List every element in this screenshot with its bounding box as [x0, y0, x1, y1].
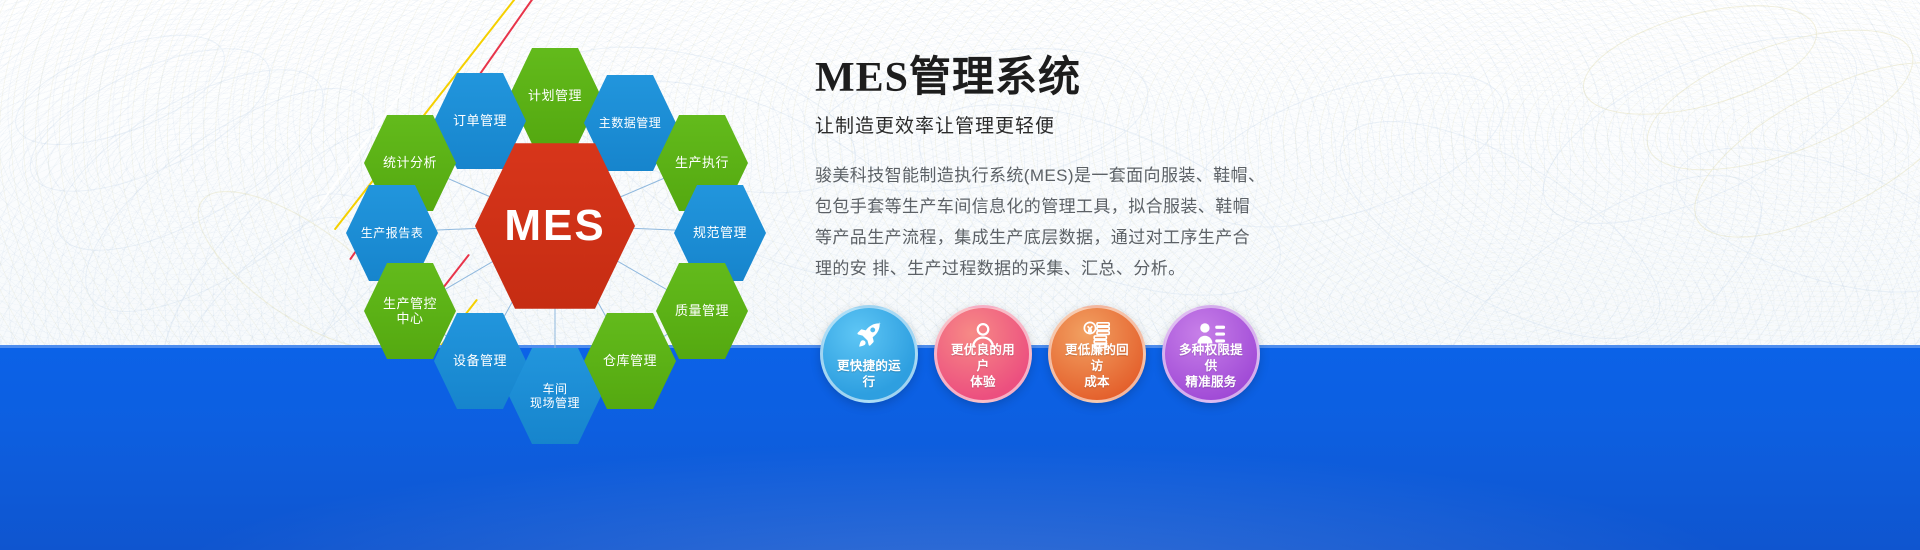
rocket-icon: [854, 320, 884, 350]
user-icon: [968, 320, 998, 350]
hex-center-label: MES: [498, 200, 611, 252]
page-description: 骏美科技智能制造执行系统(MES)是一套面向服装、鞋帽、包包手套等生产车间信息化…: [815, 160, 1267, 284]
hex-label: 计划管理: [522, 88, 588, 103]
hex-label: 订单管理: [447, 113, 513, 128]
user-list-icon: [1196, 320, 1226, 350]
feature-badge-multi-permission[interactable]: 多种权限提供精准服务: [1162, 305, 1260, 403]
hex-label: 主数据管理: [593, 116, 668, 130]
hex-label: 生产执行: [669, 155, 735, 170]
banner-stage: 计划管理 订单管理 主数据管理 统计分析 生产执行 生产报告表 规范管理 生产管…: [0, 0, 1920, 550]
hex-label: 仓库管理: [597, 353, 663, 368]
badge-label: 更快捷的运行: [823, 358, 915, 390]
feature-badge-lower-revisit-cost[interactable]: 更低廉的回访成本: [1048, 305, 1146, 403]
hex-label: 规范管理: [687, 225, 753, 240]
hex-label: 设备管理: [447, 353, 513, 368]
page-subtitle: 让制造更效率让管理更轻便: [815, 111, 1375, 138]
hex-label: 质量管理: [669, 303, 735, 318]
feature-badge-faster-operation[interactable]: 更快捷的运行: [820, 305, 918, 403]
hex-label: 生产管控中心: [377, 296, 443, 327]
hex-label: 车间现场管理: [524, 382, 586, 410]
money-stack-icon: [1082, 320, 1112, 350]
hex-label: 统计分析: [377, 155, 443, 170]
banner-text-column: MES管理系统 让制造更效率让管理更轻便 骏美科技智能制造执行系统(MES)是一…: [815, 55, 1375, 284]
feature-badge-better-user-experience[interactable]: 更优良的用户体验: [934, 305, 1032, 403]
page-title: MES管理系统: [815, 55, 1375, 101]
feature-badge-row: 更快捷的运行 更优良的用户体验: [820, 305, 1260, 403]
mes-hexagon-diagram: 计划管理 订单管理 主数据管理 统计分析 生产执行 生产报告表 规范管理 生产管…: [330, 10, 780, 440]
hex-label: 生产报告表: [355, 226, 430, 240]
